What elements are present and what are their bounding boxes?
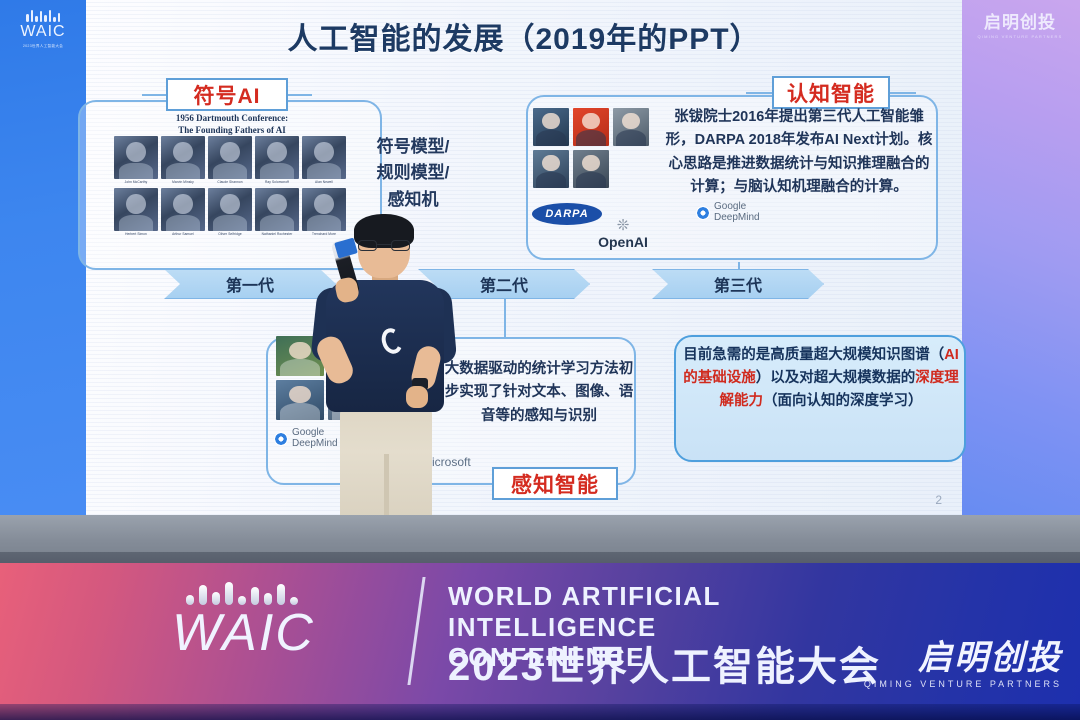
portrait-caption: Nathaniel Rochester xyxy=(255,232,299,236)
qiming-panel-logo-cn: 启明创投 xyxy=(966,14,1074,31)
symbolic-text-line1: 符号模型/ xyxy=(358,134,468,160)
waic-dots-icon xyxy=(4,10,82,22)
speaker-person xyxy=(300,218,470,558)
symbolic-model-text: 符号模型/ 规则模型/ 感知机 xyxy=(358,134,468,213)
openai-label: OpenAI xyxy=(573,234,673,250)
portrait-thumb xyxy=(255,136,299,179)
need-plain-text: （面向认知的深度学习） xyxy=(763,393,923,409)
need-plain-text: ）以及对超大规模数据的 xyxy=(756,370,916,386)
dartmouth-portrait-cell: Ray Solomonoff xyxy=(255,136,299,184)
banner-dots-icon xyxy=(172,579,402,605)
perception-description: 大数据驱动的统计学习方法初步实现了针对文本、图像、语音等的感知与识别 xyxy=(441,358,637,428)
portrait-thumb xyxy=(613,108,649,146)
connector-gen2-down xyxy=(504,299,506,339)
portrait-thumb xyxy=(114,188,158,231)
slide-page-number: 2 xyxy=(935,493,942,507)
symbolic-text-line3: 感知机 xyxy=(358,187,468,213)
portrait-thumb xyxy=(208,188,252,231)
portrait-caption: Arthur Samuel xyxy=(161,232,205,236)
portrait-caption: John McCarthy xyxy=(114,180,158,184)
dartmouth-portrait-cell: John McCarthy xyxy=(114,136,158,184)
generation-chevron-3: 第三代 xyxy=(652,269,824,299)
need-plain-text: 目前急需的是高质量超大规模知识图谱（ xyxy=(683,347,944,363)
stage-scene: WAIC 2023世界人工智能大会 启明创投 QIMING VENTURE PA… xyxy=(0,0,1080,720)
portrait-thumb xyxy=(208,136,252,179)
portrait-thumb xyxy=(255,188,299,231)
dartmouth-heading-line1: 1956 Dartmouth Conference: xyxy=(176,113,288,123)
portrait-thumb xyxy=(573,108,609,146)
google-deepmind-logo: Google DeepMind xyxy=(696,202,760,223)
waic-panel-logo: WAIC 2023世界人工智能大会 xyxy=(4,10,82,49)
dartmouth-portrait-cell: Herbert Simon xyxy=(114,188,158,236)
led-wall: WAIC 2023世界人工智能大会 启明创投 QIMING VENTURE PA… xyxy=(0,0,1080,560)
future-need-description: 目前急需的是高质量超大规模知识图谱（AI的基础设施）以及对超大规模数据的深度理解… xyxy=(682,344,960,413)
portrait-caption: Alan Newell xyxy=(302,180,346,184)
gdm-label-line2: DeepMind xyxy=(714,213,760,224)
connector-cognitive-left xyxy=(746,92,774,94)
symbolic-text-line2: 规则模型/ xyxy=(358,160,468,186)
cognitive-portraits xyxy=(533,108,653,192)
openai-mark-icon: ❊ xyxy=(573,218,673,233)
google-deepmind-mark-icon xyxy=(274,432,288,446)
banner-divider xyxy=(407,577,425,685)
dartmouth-portrait-cell: Alan Newell xyxy=(302,136,346,184)
qiming-panel-logo-en: QIMING VENTURE PARTNERS xyxy=(966,34,1074,39)
waic-panel-subtitle: 2023世界人工智能大会 xyxy=(4,44,82,49)
qiming-panel-logo: 启明创投 QIMING VENTURE PARTNERS xyxy=(966,14,1074,39)
banner-sponsor-cn: 启明创投 xyxy=(864,641,1062,675)
banner-en-line1: WORLD ARTIFICIAL INTELLIGENCE xyxy=(448,581,918,642)
portrait-thumb xyxy=(573,150,609,188)
portrait-thumb xyxy=(114,136,158,179)
speaker-glasses-icon xyxy=(358,240,410,251)
portrait-thumb xyxy=(161,188,205,231)
cognitive-description: 张钹院士2016年提出第三代人工智能雏形，DARPA 2018年发布AI Nex… xyxy=(664,106,934,200)
dartmouth-portrait-cell: Nathaniel Rochester xyxy=(255,188,299,236)
speaker-right-hand xyxy=(406,386,428,408)
slide-title: 人工智能的发展（2019年的PPT） xyxy=(86,14,962,58)
portrait-thumb xyxy=(302,136,346,179)
gdm-label-line1: Google xyxy=(714,202,760,213)
banner-sponsor-logo: 启明创投 QIMING VENTURE PARTNERS xyxy=(864,641,1062,689)
badge-cognitive-ai: 认知智能 xyxy=(772,76,890,109)
wall-right-panel: 启明创投 QIMING VENTURE PARTNERS xyxy=(960,0,1080,560)
dartmouth-portrait-cell: Oliver Selfridge xyxy=(208,188,252,236)
connector-cognitive-right xyxy=(888,92,916,94)
openai-logo: ❊ OpenAI xyxy=(573,218,673,250)
connector-symbolic-left xyxy=(142,94,168,96)
badge-perception-ai: 感知智能 xyxy=(492,467,618,500)
banner-sponsor-en: QIMING VENTURE PARTNERS xyxy=(864,679,1062,689)
dartmouth-portrait-cell: Arthur Samuel xyxy=(161,188,205,236)
dartmouth-heading-line2: The Founding Fathers of AI xyxy=(178,125,286,135)
google-deepmind-mark-icon xyxy=(696,206,710,220)
portrait-caption: Ray Solomonoff xyxy=(255,180,299,184)
portrait-thumb xyxy=(533,108,569,146)
presentation-slide: 人工智能的发展（2019年的PPT） 符号AI 认知智能 感知智能 1956 D… xyxy=(86,0,962,515)
stage-banner: WAIC WORLD ARTIFICIAL INTELLIGENCE CONFE… xyxy=(0,563,1080,720)
badge-symbolic-ai: 符号AI xyxy=(166,78,288,111)
portrait-thumb xyxy=(161,136,205,179)
dartmouth-heading: 1956 Dartmouth Conference: The Founding … xyxy=(122,112,342,136)
wall-left-panel: WAIC 2023世界人工智能大会 xyxy=(0,0,86,560)
waic-panel-wordmark: WAIC xyxy=(4,24,82,41)
banner-waic-wordmark: WAIC xyxy=(172,607,402,659)
portrait-caption: Herbert Simon xyxy=(114,232,158,236)
dartmouth-portrait-cell: Claude Shannon xyxy=(208,136,252,184)
connector-symbolic-right xyxy=(286,94,312,96)
banner-chinese-title: 2023世界人工智能大会 xyxy=(448,647,881,687)
dartmouth-portrait-cell: Marvin Minsky xyxy=(161,136,205,184)
banner-waic-logo: WAIC xyxy=(172,579,402,659)
portrait-thumb xyxy=(533,150,569,188)
portrait-caption: Marvin Minsky xyxy=(161,180,205,184)
portrait-caption: Claude Shannon xyxy=(208,180,252,184)
portrait-caption: Oliver Selfridge xyxy=(208,232,252,236)
google-deepmind-label: Google DeepMind xyxy=(714,202,760,223)
